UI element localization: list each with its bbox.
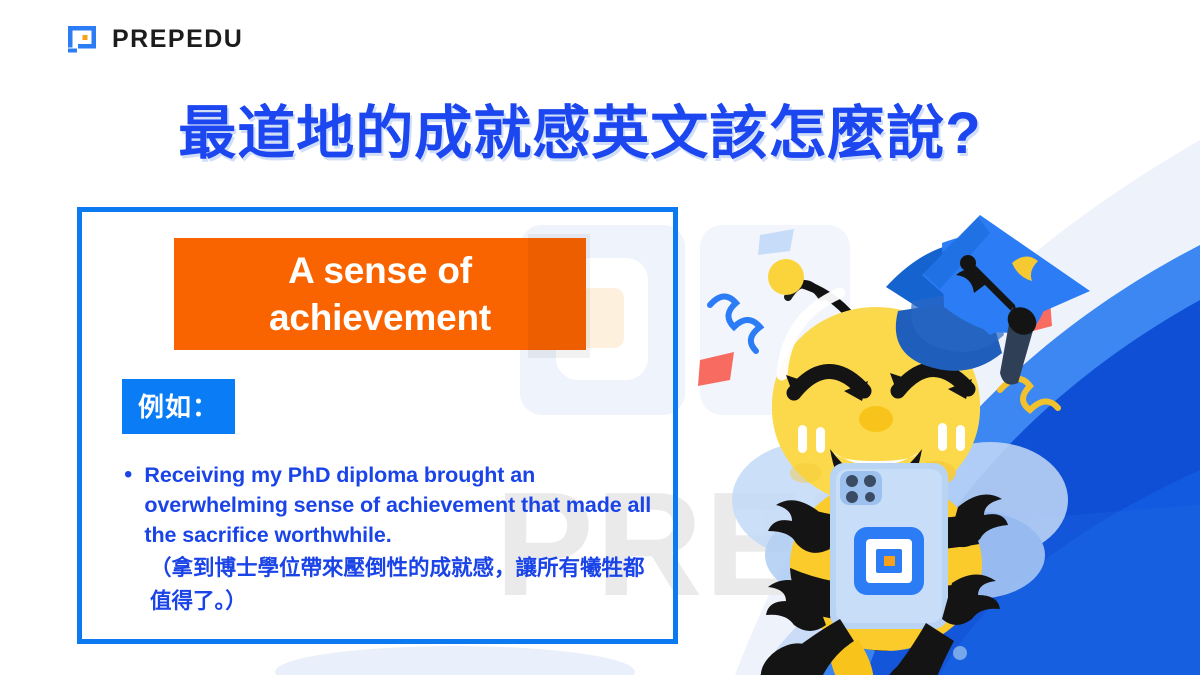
bee-graduate-mascot-icon xyxy=(690,215,1110,675)
key-phrase-box: A sense of achievement xyxy=(174,238,586,350)
brand-name: PREPEDU xyxy=(112,25,243,54)
example-sentence-english: Receiving my PhD diploma brought an over… xyxy=(144,460,654,550)
list-item: • Receiving my PhD diploma brought an ov… xyxy=(124,460,654,550)
phrase-box-shade xyxy=(528,234,590,358)
example-label-badge: 例如： xyxy=(122,379,235,434)
example-list: • Receiving my PhD diploma brought an ov… xyxy=(124,460,654,618)
page-title: 最道地的成就感英文該怎麼說? xyxy=(0,86,1160,170)
phone-with-prepedu-logo-icon xyxy=(830,463,948,629)
bullet-dot-icon: • xyxy=(124,460,132,490)
key-phrase-text: A sense of achievement xyxy=(269,247,491,341)
content-card: A sense of achievement 例如： • Receiving m… xyxy=(77,207,678,644)
example-sentence-chinese: （拿到博士學位帶來壓倒性的成就感，讓所有犧牲都值得了。） xyxy=(150,552,654,618)
prepedu-square-logo-icon xyxy=(66,22,100,56)
slide-canvas: PREP PREPEDU PREPEDU 最道地的成就感英文該怎麼說? A se… xyxy=(0,0,1200,675)
graduation-cap-icon xyxy=(886,215,1090,385)
brand-logo[interactable]: PREPEDU xyxy=(66,22,243,56)
